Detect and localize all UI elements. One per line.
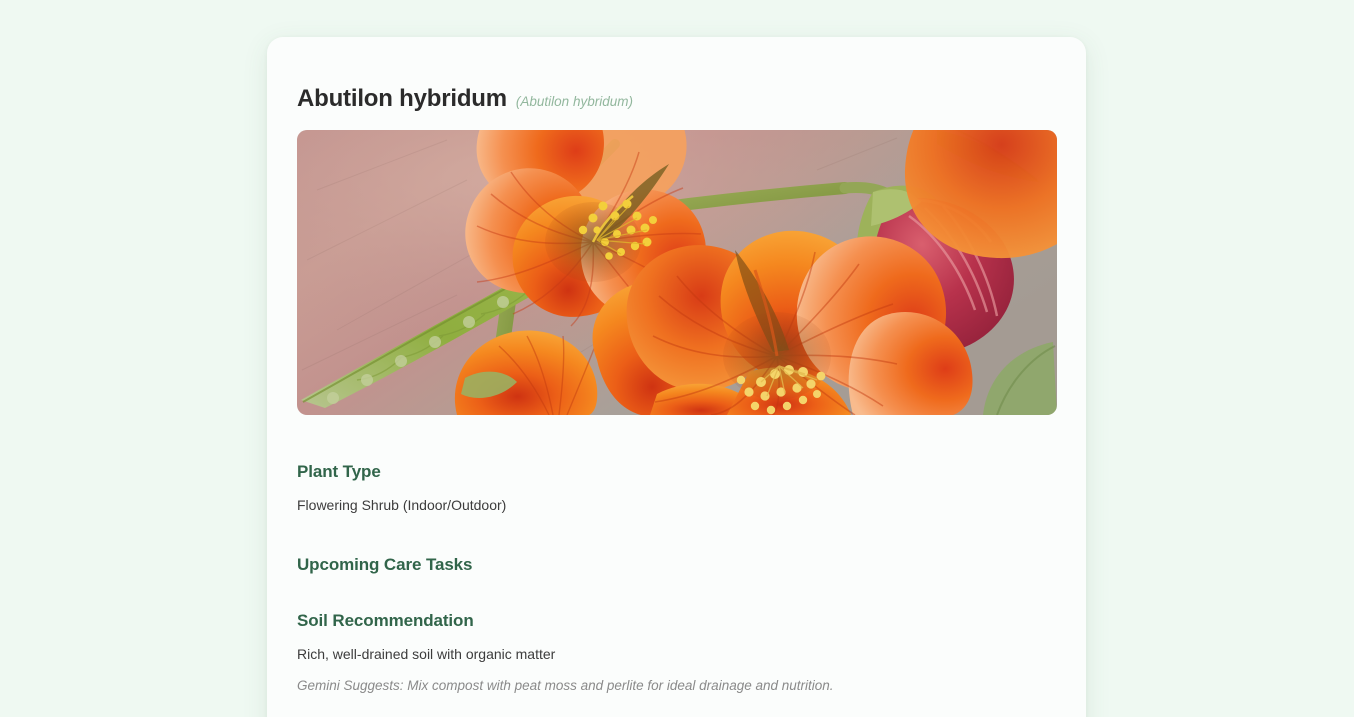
- flowering-maple-illustration: [297, 130, 1057, 415]
- section-heading-soil: Soil Recommendation: [297, 611, 1056, 631]
- page-title: Abutilon hybridum: [297, 86, 507, 112]
- soil-recommendation-value: Rich, well-drained soil with organic mat…: [297, 644, 1056, 664]
- plant-info-sections: Plant Type Flowering Shrub (Indoor/Outdo…: [297, 462, 1056, 695]
- plant-type-value: Flowering Shrub (Indoor/Outdoor): [297, 495, 1056, 515]
- section-heading-care-tasks: Upcoming Care Tasks: [297, 555, 1056, 575]
- plant-detail-card: Abutilon hybridum (Abutilon hybridum): [267, 37, 1086, 717]
- section-plant-type: Plant Type Flowering Shrub (Indoor/Outdo…: [297, 462, 1056, 515]
- section-heading-plant-type: Plant Type: [297, 462, 1056, 482]
- card-header: Abutilon hybridum (Abutilon hybridum): [297, 37, 1056, 112]
- page-root: Abutilon hybridum (Abutilon hybridum): [0, 0, 1354, 717]
- section-soil-recommendation: Soil Recommendation Rich, well-drained s…: [297, 611, 1056, 696]
- plant-hero-image: [297, 130, 1057, 415]
- plant-binomial-name: (Abutilon hybridum): [516, 94, 633, 109]
- section-upcoming-care-tasks: Upcoming Care Tasks: [297, 555, 1056, 575]
- soil-gemini-suggestion: Gemini Suggests: Mix compost with peat m…: [297, 676, 1056, 696]
